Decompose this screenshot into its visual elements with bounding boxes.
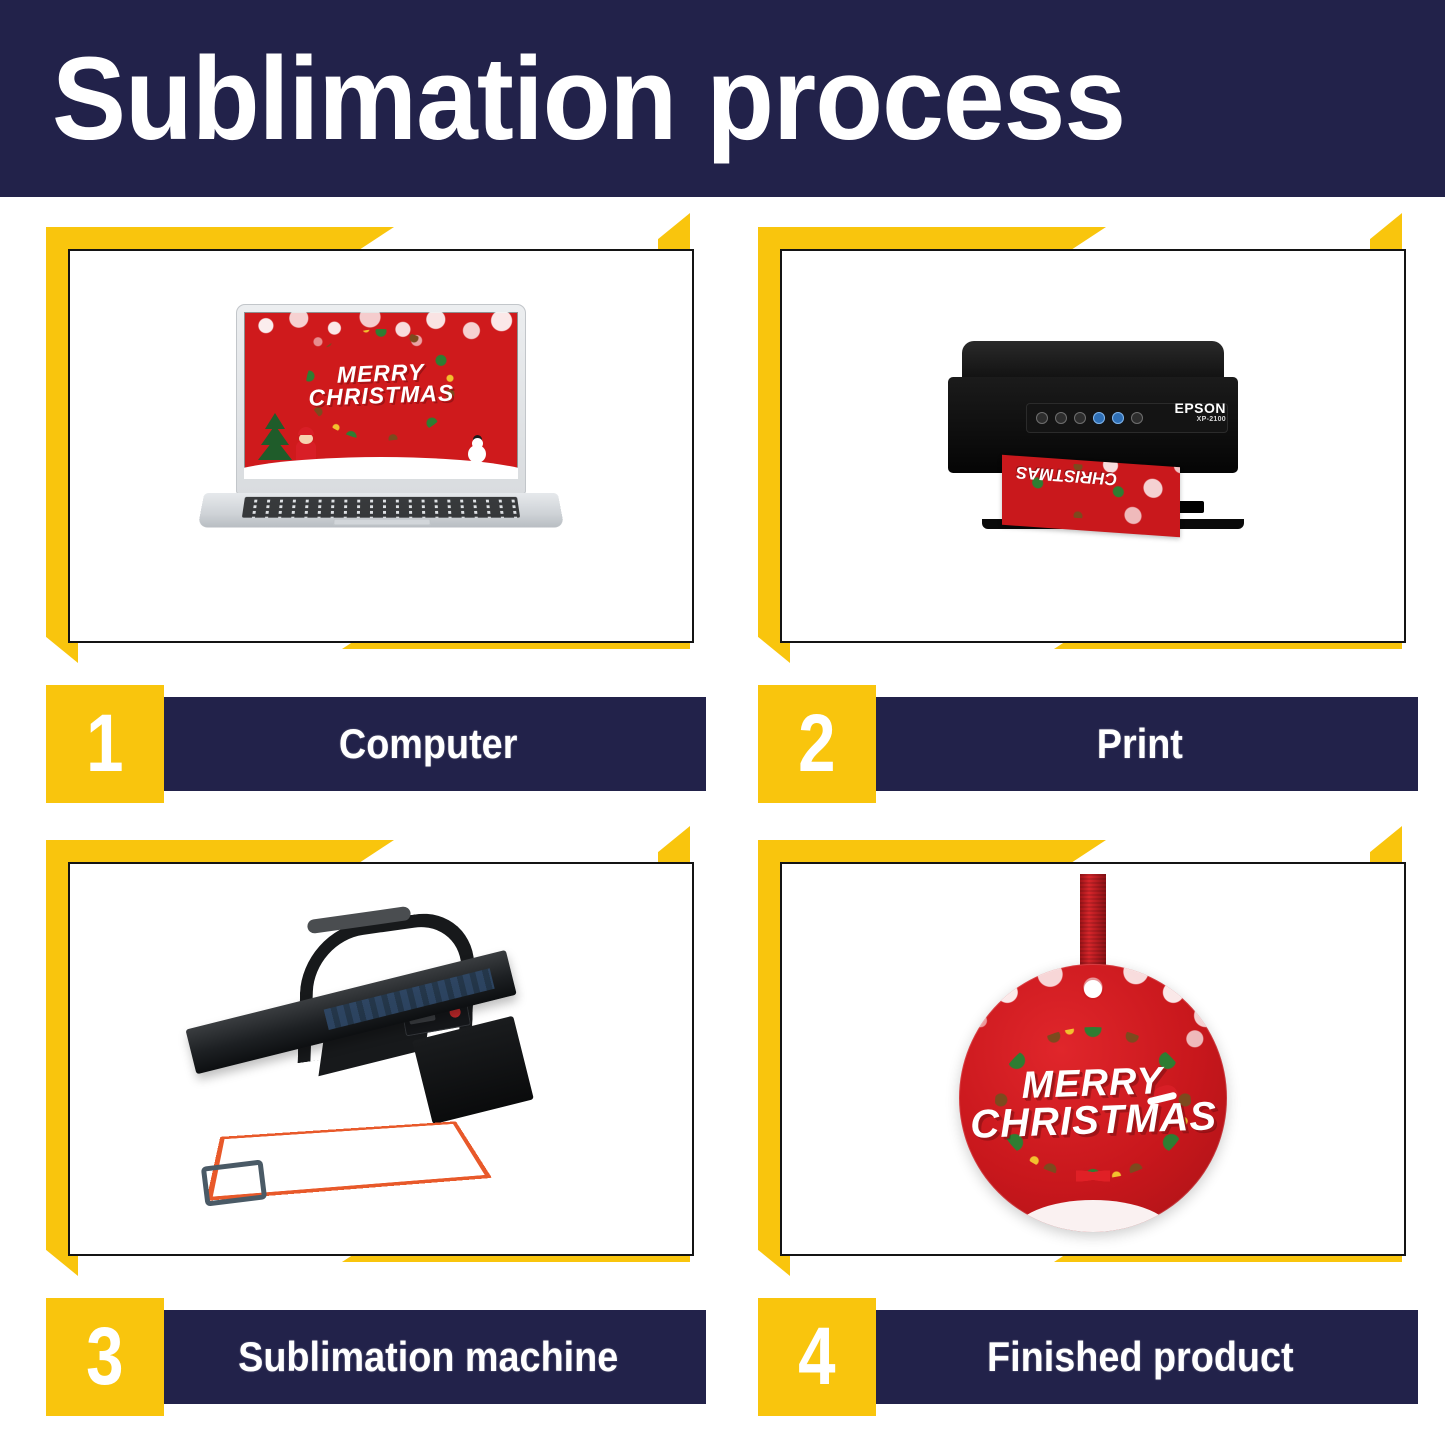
copy-bw-button-icon bbox=[1093, 412, 1105, 424]
page-title: Sublimation process bbox=[52, 40, 1125, 158]
step-2-title-bar: Print bbox=[862, 697, 1418, 791]
back-button-icon bbox=[1055, 412, 1067, 424]
step-3-number-box: 3 bbox=[46, 1298, 164, 1416]
step-3-title: Sublimation machine bbox=[238, 1333, 618, 1381]
printer-model-number: XP-2100 bbox=[1174, 416, 1226, 423]
laptop-keyboard bbox=[242, 497, 520, 518]
step-2-number: 2 bbox=[798, 703, 835, 785]
step-4-label-bar: 4 Finished product bbox=[758, 1298, 1418, 1416]
step-card-2[interactable]: EPSON XP-2100 CHRISTMAS 2 bbox=[730, 211, 1430, 816]
printer-branding: EPSON XP-2100 bbox=[1174, 401, 1226, 423]
forward-button-icon bbox=[1074, 412, 1086, 424]
step-4-image-frame: MERRY CHRISTMAS bbox=[730, 824, 1430, 1264]
step-1-image-frame: MERRY CHRISTMAS bbox=[18, 211, 718, 651]
step-4-title: Finished product bbox=[987, 1333, 1294, 1381]
printer-scanner-lid bbox=[962, 341, 1224, 381]
step-2-label-bar: 2 Print bbox=[758, 685, 1418, 803]
power-button-icon bbox=[1036, 412, 1048, 424]
step-1-title-bar: Computer bbox=[150, 697, 706, 791]
step-1-label-bar: 1 Computer bbox=[46, 685, 706, 803]
step-3-image-frame bbox=[18, 824, 718, 1264]
printer-body: EPSON XP-2100 bbox=[948, 377, 1238, 473]
step-4-number: 4 bbox=[798, 1316, 835, 1398]
ornament-greeting-text: MERRY CHRISTMAS bbox=[968, 1062, 1217, 1145]
step-2-number-box: 2 bbox=[758, 685, 876, 803]
step-1-photo: MERRY CHRISTMAS bbox=[68, 249, 694, 643]
bow-icon bbox=[1076, 1168, 1110, 1184]
step-3-number: 3 bbox=[86, 1316, 123, 1398]
step-card-4[interactable]: MERRY CHRISTMAS 4 Finished product bbox=[730, 824, 1430, 1429]
page-header: Sublimation process bbox=[0, 0, 1445, 197]
printer-brand-name: EPSON bbox=[1174, 401, 1226, 416]
step-4-title-bar: Finished product bbox=[862, 1310, 1418, 1404]
heat-press-illustration bbox=[171, 909, 591, 1209]
step-4-photo: MERRY CHRISTMAS bbox=[780, 862, 1406, 1256]
christmas-tree-icon bbox=[258, 411, 292, 465]
tray-handle bbox=[201, 1159, 267, 1206]
step-card-3[interactable]: 3 Sublimation machine bbox=[18, 824, 718, 1429]
printer-illustration: EPSON XP-2100 CHRISTMAS bbox=[928, 331, 1258, 561]
step-2-photo: EPSON XP-2100 CHRISTMAS bbox=[780, 249, 1406, 643]
laptop-screen: MERRY CHRISTMAS bbox=[244, 312, 518, 479]
screen-greeting-text: MERRY CHRISTMAS bbox=[307, 361, 454, 410]
step-1-number: 1 bbox=[86, 703, 123, 785]
copy-color-button-icon bbox=[1112, 412, 1124, 424]
stop-button-icon bbox=[1131, 412, 1143, 424]
greeting-line-2: CHRISTMAS bbox=[308, 383, 454, 410]
laptop-base bbox=[198, 493, 565, 527]
greeting-line-2: CHRISTMAS bbox=[970, 1098, 1218, 1145]
step-1-number-box: 1 bbox=[46, 685, 164, 803]
santa-icon bbox=[296, 441, 316, 467]
step-2-title: Print bbox=[1097, 720, 1183, 768]
step-1-title: Computer bbox=[339, 720, 518, 768]
step-3-label-bar: 3 Sublimation machine bbox=[46, 1298, 706, 1416]
step-4-number-box: 4 bbox=[758, 1298, 876, 1416]
step-3-photo bbox=[68, 862, 694, 1256]
snowman-icon bbox=[468, 435, 486, 463]
steps-grid: MERRY CHRISTMAS bbox=[0, 197, 1445, 1424]
laptop-illustration: MERRY CHRISTMAS bbox=[181, 296, 581, 596]
step-card-1[interactable]: MERRY CHRISTMAS bbox=[18, 211, 718, 816]
laptop-lid: MERRY CHRISTMAS bbox=[236, 304, 526, 494]
ornament-bottom-highlight bbox=[1013, 1200, 1173, 1232]
laptop-trackpad bbox=[333, 519, 431, 526]
ornament-hole bbox=[1084, 980, 1102, 998]
ornament-illustration: MERRY CHRISTMAS bbox=[943, 874, 1243, 1244]
step-3-title-bar: Sublimation machine bbox=[150, 1310, 706, 1404]
step-2-image-frame: EPSON XP-2100 CHRISTMAS bbox=[730, 211, 1430, 651]
ornament-disc: MERRY CHRISTMAS bbox=[959, 964, 1227, 1232]
printed-sheet: CHRISTMAS bbox=[1002, 455, 1180, 537]
